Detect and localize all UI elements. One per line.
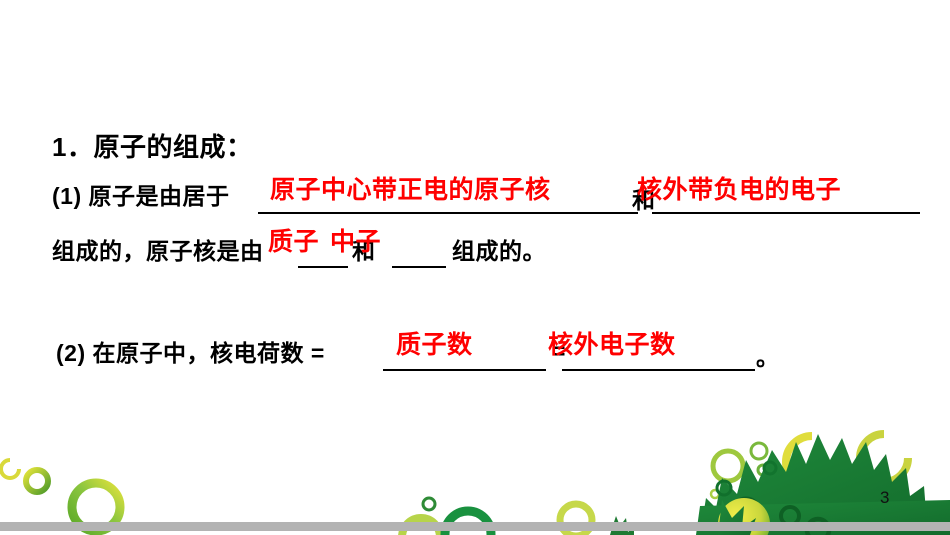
ring-bottom-left-small — [1, 460, 19, 478]
slide-canvas: 1．原子的组成： (1) 原子是由居于 和 原子中心带正电的原子核 核外带负电的… — [0, 0, 950, 535]
item1-answer-2-annotation: 核外带负电的电子 — [637, 170, 841, 206]
item1-answer-1-annotation: 原子中心带正电的原子核 — [270, 170, 551, 206]
ring-leaf-upper-left — [713, 451, 743, 481]
ring-bottom-left-medium — [26, 470, 48, 492]
bottom-status-bar — [0, 522, 950, 531]
page-number: 3 — [880, 488, 889, 508]
ring-center-tiny — [423, 498, 435, 510]
item2-prefix-text: (2) 在原子中，核电荷数 = — [56, 334, 325, 368]
item2-blank-1-underline — [383, 369, 546, 371]
item1-blank-2-underline — [652, 212, 920, 214]
item1-cont-suffix-text: 组成的。 — [452, 232, 546, 266]
item1-cont-prefix-text: 组成的，原子核是由 — [52, 232, 264, 266]
item1-cont-answer-2-annotation: 中子 — [330, 222, 381, 258]
slide-footer-decoration — [0, 420, 950, 535]
item1-cont-blank-1-underline — [298, 266, 348, 268]
item1-cont-answer-1-annotation: 质子 — [268, 222, 319, 258]
item1-cont-blank-2-underline — [392, 266, 446, 268]
page-title: 1．原子的组成： — [52, 127, 252, 164]
item2-blank-2-underline — [562, 369, 755, 371]
ring-leaf-upper-left-small — [751, 443, 767, 459]
item2-answer-1-annotation: 质子数 — [396, 325, 473, 361]
item2-period-text: 。 — [756, 338, 780, 372]
item2-answer-2-annotation: 核外电子数 — [548, 325, 676, 361]
item1-prefix-text: (1) 原子是由居于 — [52, 177, 230, 211]
item1-blank-1-underline — [258, 212, 638, 214]
